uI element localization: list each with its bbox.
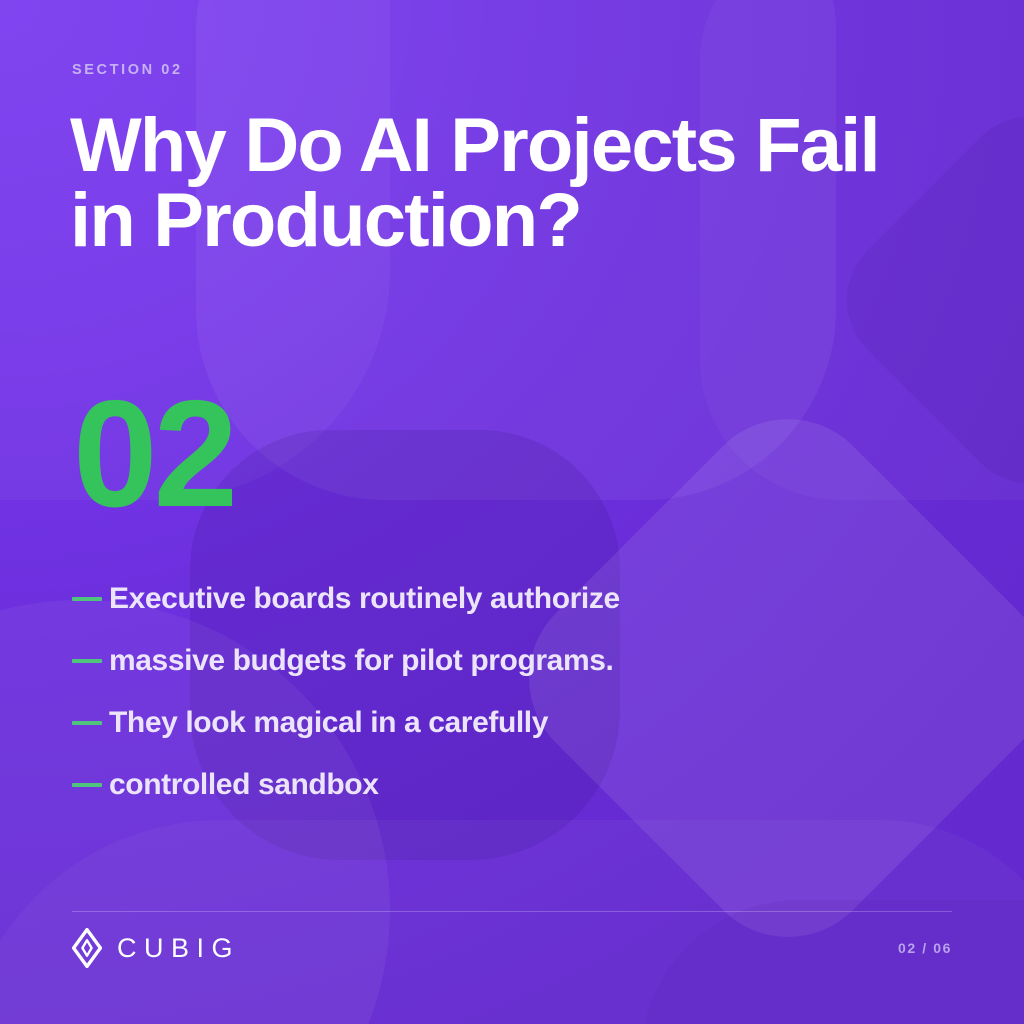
brand-lockup: CUBIG xyxy=(72,928,240,968)
footer-divider xyxy=(72,911,952,912)
slide-counter: 02 / 06 xyxy=(898,940,952,956)
slide-canvas: SECTION 02 Why Do AI Projects Fail in Pr… xyxy=(0,0,1024,1024)
list-item: massive budgets for pilot programs. xyxy=(72,630,952,692)
section-number-display: 02 xyxy=(73,378,234,530)
list-item: controlled sandbox xyxy=(72,754,952,816)
list-item-label: controlled sandbox xyxy=(109,768,379,802)
list-item-label: massive budgets for pilot programs. xyxy=(109,644,613,678)
bullet-list: Executive boards routinely authorize mas… xyxy=(72,568,952,816)
dash-icon xyxy=(72,721,102,725)
slide-footer: CUBIG 02 / 06 xyxy=(72,928,952,968)
page-title-line-1: Why Do AI Projects Fail xyxy=(70,108,950,183)
list-item: They look magical in a carefully xyxy=(72,692,952,754)
list-item-label: They look magical in a carefully xyxy=(109,706,548,740)
list-item-label: Executive boards routinely authorize xyxy=(109,582,620,616)
section-eyebrow-label: SECTION 02 xyxy=(72,62,183,78)
page-title-line-2: in Production? xyxy=(70,183,950,258)
dash-icon xyxy=(72,783,102,787)
list-item: Executive boards routinely authorize xyxy=(72,568,952,630)
slide-content: SECTION 02 Why Do AI Projects Fail in Pr… xyxy=(0,0,1024,1024)
page-title: Why Do AI Projects Fail in Production? xyxy=(70,108,950,258)
dash-icon xyxy=(72,659,102,663)
dash-icon xyxy=(72,597,102,601)
brand-wordmark: CUBIG xyxy=(117,933,240,964)
cubig-diamond-logo-icon xyxy=(72,928,102,968)
